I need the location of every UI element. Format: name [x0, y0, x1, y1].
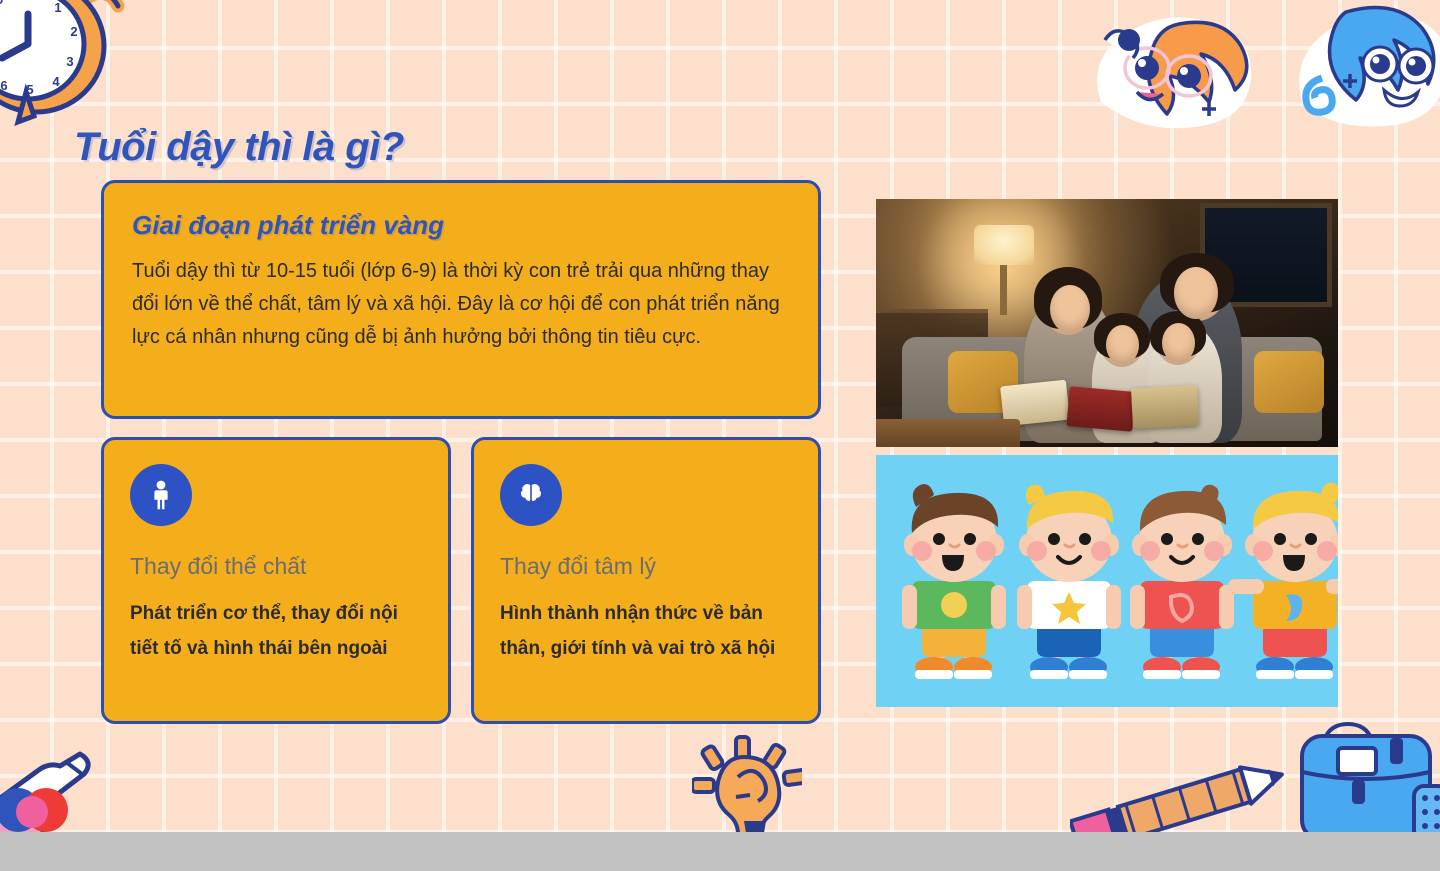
feature-card-physical-heading: Thay đổi thể chất	[130, 552, 422, 580]
brain-icon	[500, 464, 562, 526]
feature-card-psychological-change: Thay đổi tâm lý Hình thành nhận thức về …	[471, 437, 821, 724]
svg-text:6: 6	[0, 78, 7, 93]
cartoon-kids-illustration	[876, 455, 1338, 707]
main-card-heading: Giai đoạn phát triển vàng	[132, 209, 790, 241]
svg-text:4: 4	[52, 74, 60, 89]
family-reading-photo	[876, 199, 1338, 447]
svg-text:10: 10	[0, 0, 3, 7]
lightbulb-decoration	[692, 735, 802, 832]
child-person-icon	[130, 464, 192, 526]
main-card-body: Tuổi dậy thì từ 10-15 tuổi (lớp 6-9) là …	[132, 255, 790, 354]
feature-card-physical-change: Thay đổi thể chất Phát triển cơ thể, tha…	[101, 437, 451, 724]
svg-text:2: 2	[70, 24, 77, 39]
bottom-gray-bar	[0, 832, 1440, 871]
face-sticker-orange-hair-decoration	[1083, 6, 1267, 136]
slide-canvas: 1212 345 678 91011	[0, 0, 1440, 832]
pencil-decoration	[1070, 755, 1300, 832]
feature-card-psychological-body: Hình thành nhận thức về bản thân, giới t…	[500, 596, 792, 666]
backpack-decoration	[1294, 722, 1440, 832]
feature-card-psychological-heading: Thay đổi tâm lý	[500, 552, 792, 580]
feature-card-physical-body: Phát triển cơ thể, thay đổi nội tiết tố …	[130, 596, 422, 666]
slide-root: 1212 345 678 91011	[0, 0, 1440, 871]
svg-text:5: 5	[26, 82, 33, 97]
svg-text:12: 12	[21, 0, 35, 3]
alarm-clock-decoration: 1212 345 678 91011	[0, 0, 136, 134]
svg-text:3: 3	[66, 54, 73, 69]
svg-text:1: 1	[54, 0, 61, 15]
main-info-card: Giai đoạn phát triển vàng Tuổi dậy thì t…	[101, 180, 821, 419]
page-title: Tuổi dậy thì là gì?	[74, 123, 404, 171]
face-sticker-blue-hair-decoration	[1288, 2, 1440, 134]
science-flask-decoration	[0, 748, 118, 832]
